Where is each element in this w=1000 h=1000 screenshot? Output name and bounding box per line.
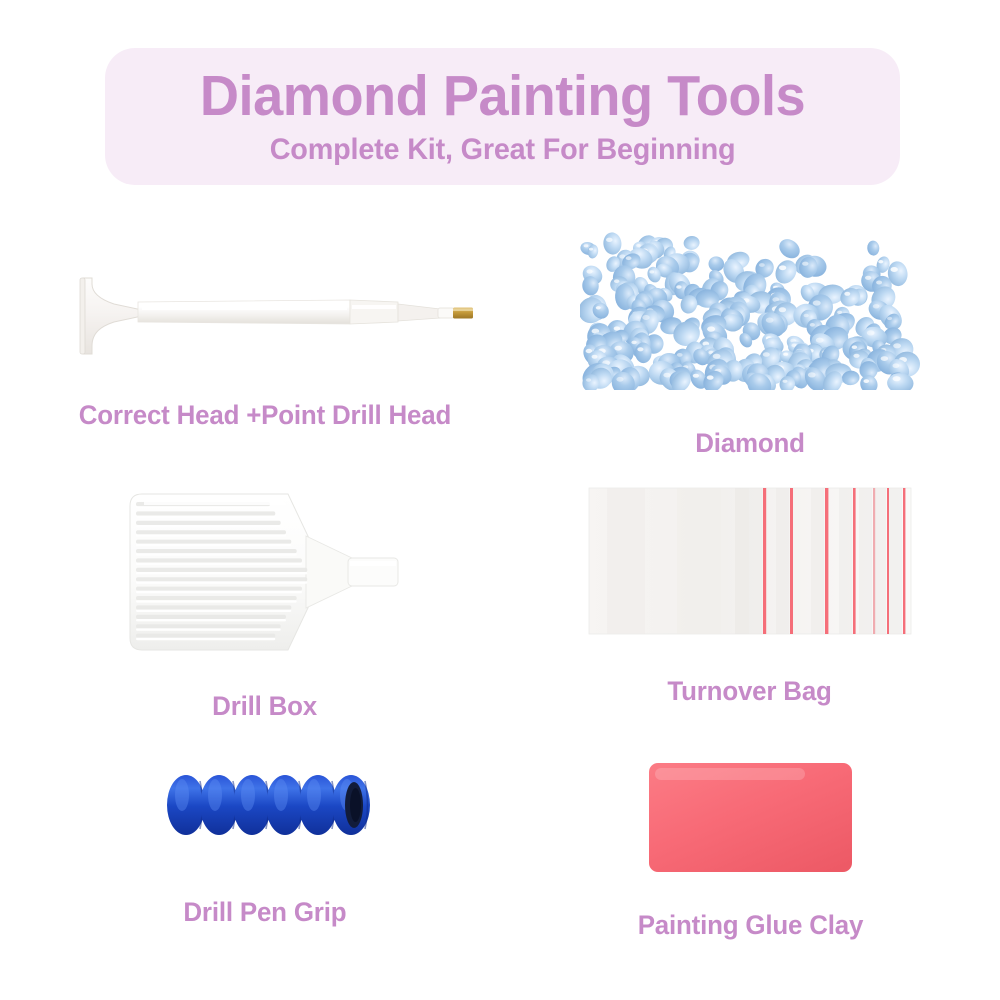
product-label-turnover-bag: Turnover Bag bbox=[668, 676, 832, 707]
product-label-pen-grip: Drill Pen Grip bbox=[184, 897, 347, 928]
product-cell-diamond: Diamond bbox=[530, 225, 970, 459]
product-cell-turnover-bag: Turnover Bag bbox=[530, 480, 970, 707]
page-subtitle: Complete Kit, Great For Beginning bbox=[270, 133, 736, 166]
foam-pen-grip-photo bbox=[40, 765, 490, 845]
header-banner: Diamond Painting Tools Complete Kit, Gre… bbox=[105, 48, 900, 185]
product-label-diamond: Diamond bbox=[695, 428, 805, 459]
diamond-painting-pen-photo bbox=[30, 250, 500, 370]
product-label-drill-box: Drill Box bbox=[213, 691, 318, 722]
product-cell-drill-box: Drill Box bbox=[40, 480, 490, 722]
infographic-page: Diamond Painting Tools Complete Kit, Gre… bbox=[0, 0, 1000, 1000]
product-label-glue-clay: Painting Glue Clay bbox=[637, 910, 863, 941]
product-label-correct-head: Correct Head +Point Drill Head bbox=[79, 400, 451, 431]
product-cell-correct-head: Correct Head +Point Drill Head bbox=[30, 250, 500, 431]
glue-clay-block-photo bbox=[530, 755, 970, 880]
diamond-drills-pile-photo bbox=[530, 225, 970, 390]
page-title: Diamond Painting Tools bbox=[200, 67, 805, 126]
product-cell-pen-grip: Drill Pen Grip bbox=[40, 765, 490, 928]
zip-bags-photo bbox=[530, 480, 970, 640]
drill-tray-photo bbox=[40, 480, 490, 665]
product-cell-glue-clay: Painting Glue Clay bbox=[530, 755, 970, 941]
